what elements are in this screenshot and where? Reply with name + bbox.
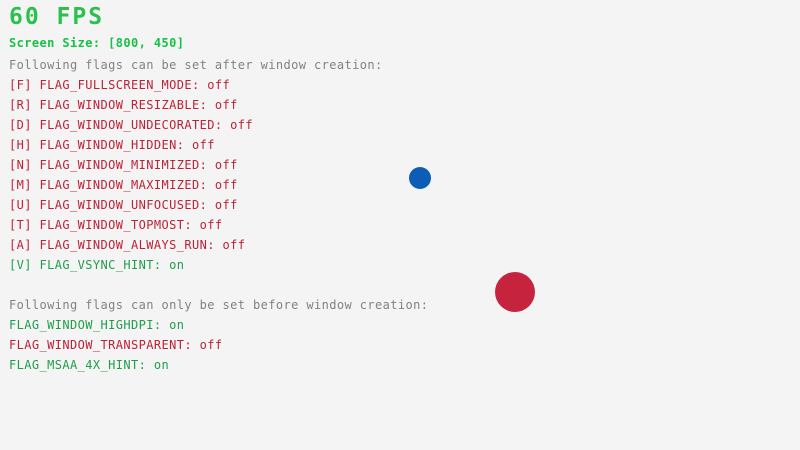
flag-row: FLAG_WINDOW_HIGHDPI: on xyxy=(9,318,223,338)
flag-separator: : xyxy=(154,318,169,332)
flag-row[interactable]: [D] FLAG_WINDOW_UNDECORATED: off xyxy=(9,118,253,138)
blue-circle xyxy=(409,167,431,189)
pre-creation-header: Following flags can only be set before w… xyxy=(9,298,428,312)
raylib-window: 60 FPS Screen Size: [800, 450] Following… xyxy=(0,0,800,450)
flag-separator: : xyxy=(154,258,169,272)
flag-row[interactable]: [F] FLAG_FULLSCREEN_MODE: off xyxy=(9,78,253,98)
flag-name: FLAG_WINDOW_UNDECORATED xyxy=(40,118,215,132)
flag-row[interactable]: [U] FLAG_WINDOW_UNFOCUSED: off xyxy=(9,198,253,218)
flag-shortcut-key: [M] xyxy=(9,178,40,192)
flag-separator: : xyxy=(177,138,192,152)
flag-name: FLAG_WINDOW_MINIMIZED xyxy=(40,158,200,172)
flag-row[interactable]: [M] FLAG_WINDOW_MAXIMIZED: off xyxy=(9,178,253,198)
flag-row[interactable]: [H] FLAG_WINDOW_HIDDEN: off xyxy=(9,138,253,158)
flag-value: on xyxy=(169,258,184,272)
flag-separator: : xyxy=(184,338,199,352)
post-creation-header: Following flags can be set after window … xyxy=(9,58,383,72)
flag-row: FLAG_MSAA_4X_HINT: on xyxy=(9,358,223,378)
flag-value: off xyxy=(215,98,238,112)
flag-separator: : xyxy=(184,218,199,232)
flag-row[interactable]: [V] FLAG_VSYNC_HINT: on xyxy=(9,258,253,278)
flag-shortcut-key: [V] xyxy=(9,258,40,272)
flag-value: off xyxy=(215,158,238,172)
flag-value: off xyxy=(223,238,246,252)
flag-name: FLAG_WINDOW_HIGHDPI xyxy=(9,318,154,332)
flag-name: FLAG_WINDOW_ALWAYS_RUN xyxy=(40,238,208,252)
red-circle xyxy=(495,272,535,312)
flag-row: FLAG_WINDOW_TRANSPARENT: off xyxy=(9,338,223,358)
flag-row[interactable]: [T] FLAG_WINDOW_TOPMOST: off xyxy=(9,218,253,238)
flag-value: off xyxy=(230,118,253,132)
flag-separator: : xyxy=(207,238,222,252)
flag-value: off xyxy=(207,78,230,92)
flag-row[interactable]: [R] FLAG_WINDOW_RESIZABLE: off xyxy=(9,98,253,118)
flag-separator: : xyxy=(215,118,230,132)
flag-name: FLAG_WINDOW_RESIZABLE xyxy=(40,98,200,112)
flag-shortcut-key: [N] xyxy=(9,158,40,172)
fps-counter: 60 FPS xyxy=(9,5,104,30)
screen-size-label: Screen Size: [800, 450] xyxy=(9,36,184,50)
flag-name: FLAG_MSAA_4X_HINT xyxy=(9,358,139,372)
flag-shortcut-key: [H] xyxy=(9,138,40,152)
flag-row[interactable]: [N] FLAG_WINDOW_MINIMIZED: off xyxy=(9,158,253,178)
flag-name: FLAG_WINDOW_HIDDEN xyxy=(40,138,177,152)
flag-row[interactable]: [A] FLAG_WINDOW_ALWAYS_RUN: off xyxy=(9,238,253,258)
flag-value: on xyxy=(154,358,169,372)
flag-shortcut-key: [U] xyxy=(9,198,40,212)
flag-name: FLAG_FULLSCREEN_MODE xyxy=(40,78,193,92)
flag-value: off xyxy=(192,138,215,152)
flag-separator: : xyxy=(200,178,215,192)
pre-creation-flag-list: FLAG_WINDOW_HIGHDPI: onFLAG_WINDOW_TRANS… xyxy=(9,318,223,378)
flag-shortcut-key: [A] xyxy=(9,238,40,252)
flag-name: FLAG_VSYNC_HINT xyxy=(40,258,154,272)
flag-shortcut-key: [T] xyxy=(9,218,40,232)
flag-value: off xyxy=(200,218,223,232)
flag-separator: : xyxy=(139,358,154,372)
flag-value: on xyxy=(169,318,184,332)
post-creation-flag-list: [F] FLAG_FULLSCREEN_MODE: off[R] FLAG_WI… xyxy=(9,78,253,278)
flag-shortcut-key: [D] xyxy=(9,118,40,132)
flag-shortcut-key: [R] xyxy=(9,98,40,112)
flag-separator: : xyxy=(200,198,215,212)
flag-value: off xyxy=(215,198,238,212)
flag-separator: : xyxy=(192,78,207,92)
flag-value: off xyxy=(215,178,238,192)
flag-shortcut-key: [F] xyxy=(9,78,40,92)
flag-name: FLAG_WINDOW_MAXIMIZED xyxy=(40,178,200,192)
flag-value: off xyxy=(200,338,223,352)
flag-separator: : xyxy=(200,158,215,172)
flag-name: FLAG_WINDOW_TOPMOST xyxy=(40,218,185,232)
flag-separator: : xyxy=(200,98,215,112)
flag-name: FLAG_WINDOW_UNFOCUSED xyxy=(40,198,200,212)
flag-name: FLAG_WINDOW_TRANSPARENT xyxy=(9,338,184,352)
